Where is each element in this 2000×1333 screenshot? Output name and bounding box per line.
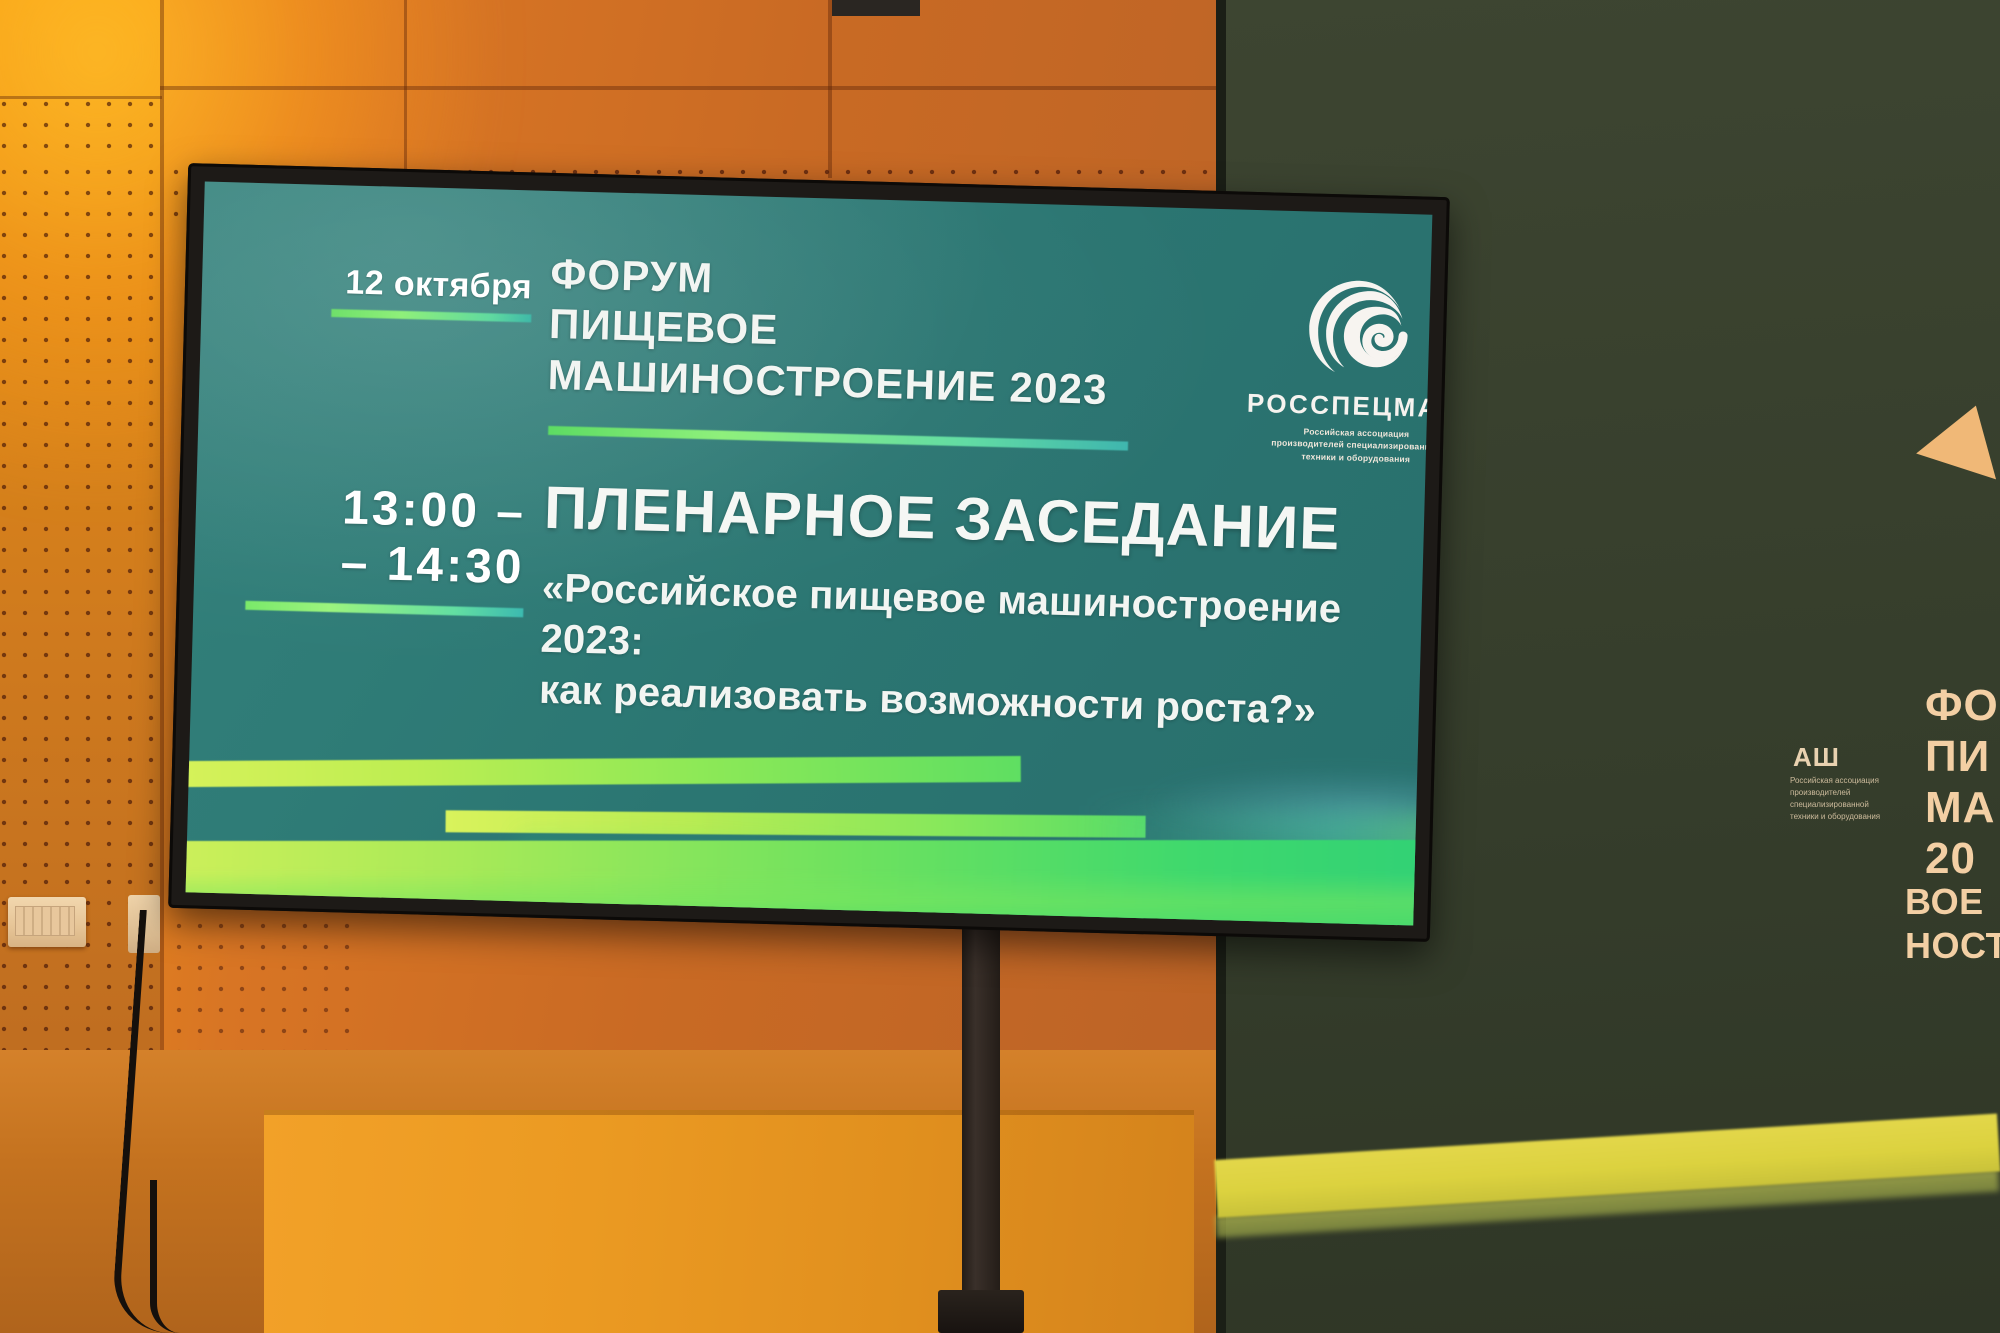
session-time: 13:00 – – 14:30 [224, 477, 527, 595]
perforated-panel-left [0, 168, 162, 868]
presentation-slide: 12 октября ФОРУМ ПИЩЕВОЕ МАШИНОСТРОЕНИЕ … [186, 182, 1433, 926]
session-subtitle: «Российское пищевое машиностроение 2023:… [538, 563, 1342, 738]
session-time-line-1: 13:00 – [225, 477, 526, 540]
banner-partial-text-lower: ВОЕ НОСТРОЕНИ [1905, 880, 2000, 968]
banner-logo-partial-label: АШ [1793, 742, 1913, 773]
tv-stand-neck [962, 918, 1000, 1333]
logo-wordmark: РОССПЕЦМАШ [1242, 388, 1433, 425]
banner-partial-lower-line-2: НОСТРОЕНИ [1905, 924, 2000, 968]
banner-partial-line-2: ПИ [1925, 731, 2000, 782]
banner-tagline-line-2: производителей специализированной [1790, 787, 1900, 811]
wood-cabinet [264, 1110, 1194, 1333]
perforated-panel-upper-left [0, 100, 162, 158]
cabinet-top-edge [264, 1110, 1194, 1115]
light-switch-rockers[interactable] [15, 906, 75, 936]
forum-heading: ФОРУМ ПИЩЕВОЕ МАШИНОСТРОЕНИЕ 2023 [547, 249, 1311, 421]
swoosh-globe-icon [1303, 273, 1416, 386]
ceiling-recess [832, 0, 920, 16]
tv-stand-foot [938, 1290, 1024, 1333]
conference-room-scene: ФО ПИ МА 20 ВОЕ НОСТРОЕНИ АШ Российская … [0, 0, 2000, 1333]
wall-seam [828, 0, 832, 178]
wall-seam [0, 96, 162, 99]
logo-tagline: Российская ассоциация производителей спе… [1241, 424, 1433, 467]
banner-partial-lower-line-1: ВОЕ [1905, 880, 2000, 924]
banner-partial-text: ФО ПИ МА 20 [1925, 680, 2000, 884]
television[interactable]: 12 октября ФОРУМ ПИЩЕВОЕ МАШИНОСТРОЕНИЕ … [168, 163, 1450, 942]
wall-seam [160, 86, 1220, 90]
banner-tagline-line-1: Российская ассоциация [1790, 775, 1900, 787]
banner-tagline-line-3: техники и оборудования [1790, 811, 1900, 823]
session-time-line-2: – 14:30 [224, 532, 525, 595]
banner-partial-line-3: МА [1925, 782, 2000, 833]
banner-partial-line-4: 20 [1925, 833, 2000, 884]
power-cable-lower [150, 1180, 197, 1333]
banner-partial-line-1: ФО [1925, 680, 2000, 731]
slide-deco-bar-1 [186, 756, 1021, 787]
rosspetsmash-logo: РОССПЕЦМАШ Российская ассоциация произво… [1241, 272, 1433, 467]
banner-logo-partial-tagline: Российская ассоциация производителей спе… [1790, 775, 1900, 823]
slide-date: 12 октября [302, 262, 533, 307]
wall-seam [404, 0, 407, 175]
